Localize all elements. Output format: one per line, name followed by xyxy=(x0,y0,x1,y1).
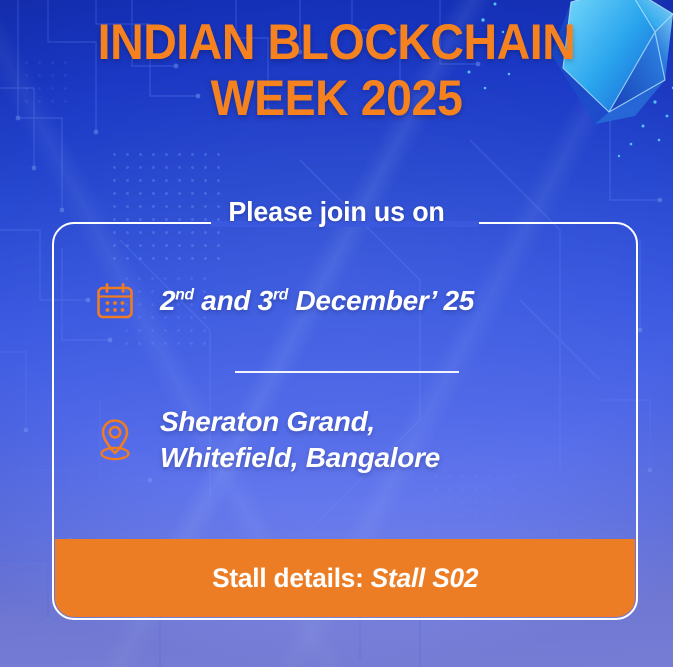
date-conjunction: and xyxy=(194,285,258,316)
stall-details-text: Stall details: Stall S02 xyxy=(212,563,478,594)
details-card: 2nd and 3rd December’ 25 Sheraton Grand,… xyxy=(52,222,638,620)
event-date-text: 2nd and 3rd December’ 25 xyxy=(160,283,474,319)
venue-line-1: Sheraton Grand, xyxy=(160,404,440,440)
calendar-icon xyxy=(92,276,138,326)
date-month-year: December’ 25 xyxy=(288,285,474,316)
stall-details-banner: Stall details: Stall S02 xyxy=(55,539,635,617)
event-poster: INDIAN BLOCKCHAIN WEEK 2025 Please join … xyxy=(0,0,673,667)
date-day-2-suffix: rd xyxy=(273,287,288,304)
date-row: 2nd and 3rd December’ 25 xyxy=(92,276,474,326)
poster-title: INDIAN BLOCKCHAIN WEEK 2025 xyxy=(0,14,673,126)
title-line-1: INDIAN BLOCKCHAIN xyxy=(24,14,650,70)
title-line-2: WEEK 2025 xyxy=(24,70,650,126)
map-pin-icon xyxy=(92,415,138,465)
date-day-1: 2 xyxy=(160,285,175,316)
section-divider xyxy=(235,371,459,373)
venue-text: Sheraton Grand, Whitefield, Bangalore xyxy=(160,404,440,476)
date-day-2: 3 xyxy=(258,285,273,316)
join-heading: Please join us on xyxy=(13,196,659,228)
stall-label: Stall details: xyxy=(212,563,371,593)
date-day-1-suffix: nd xyxy=(175,287,194,304)
stall-value: Stall S02 xyxy=(371,563,478,593)
venue-line-2: Whitefield, Bangalore xyxy=(160,440,440,476)
venue-row: Sheraton Grand, Whitefield, Bangalore xyxy=(92,404,440,476)
